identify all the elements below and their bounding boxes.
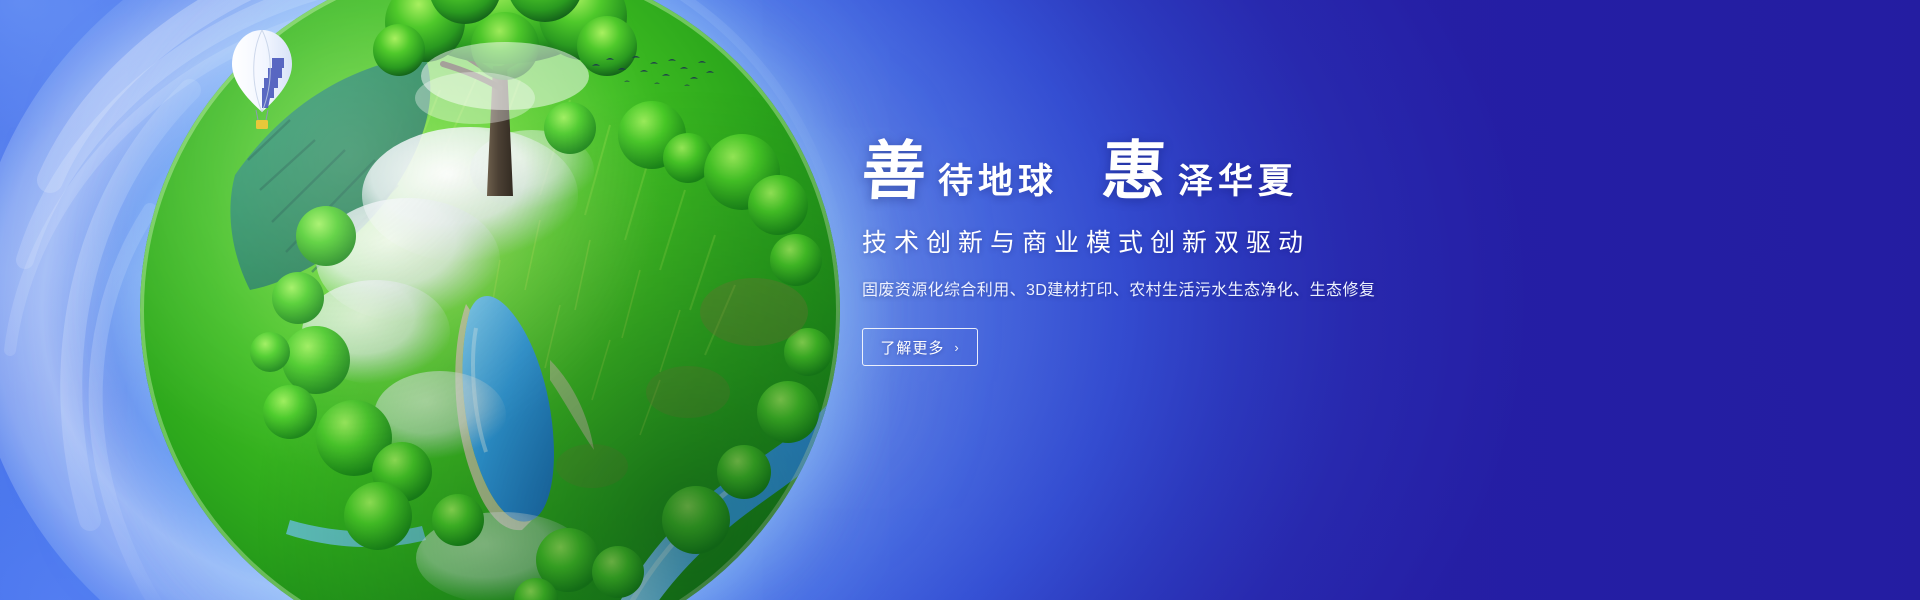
learn-more-label: 了解更多 — [880, 337, 944, 358]
hot-air-balloon-icon — [228, 28, 296, 133]
headline-group-2: 惠 泽华夏 — [1102, 140, 1298, 204]
hero-banner: 善 待地球 惠 泽华夏 技术创新与商业模式创新双驱动 固废资源化综合利用、3D建… — [0, 0, 1920, 600]
subtitle: 技术创新与商业模式创新双驱动 — [862, 228, 1622, 258]
description: 固废资源化综合利用、3D建材打印、农村生活污水生态净化、生态修复 — [862, 280, 1622, 302]
learn-more-button[interactable]: 了解更多 › — [862, 328, 978, 366]
banner-content: 善 待地球 惠 泽华夏 技术创新与商业模式创新双驱动 固废资源化综合利用、3D建… — [862, 118, 1622, 366]
bird-flock-icon — [588, 52, 718, 92]
headline-char-2: 惠 — [1100, 140, 1167, 204]
headline-rest-1: 待地球 — [938, 164, 1058, 202]
chevron-right-icon: › — [954, 341, 959, 354]
headline-group-1: 善 待地球 — [862, 140, 1058, 204]
headline: 善 待地球 惠 泽华夏 — [862, 118, 1622, 204]
headline-char-1: 善 — [860, 140, 927, 204]
headline-rest-2: 泽华夏 — [1178, 164, 1298, 202]
tree-icon — [355, 0, 655, 208]
